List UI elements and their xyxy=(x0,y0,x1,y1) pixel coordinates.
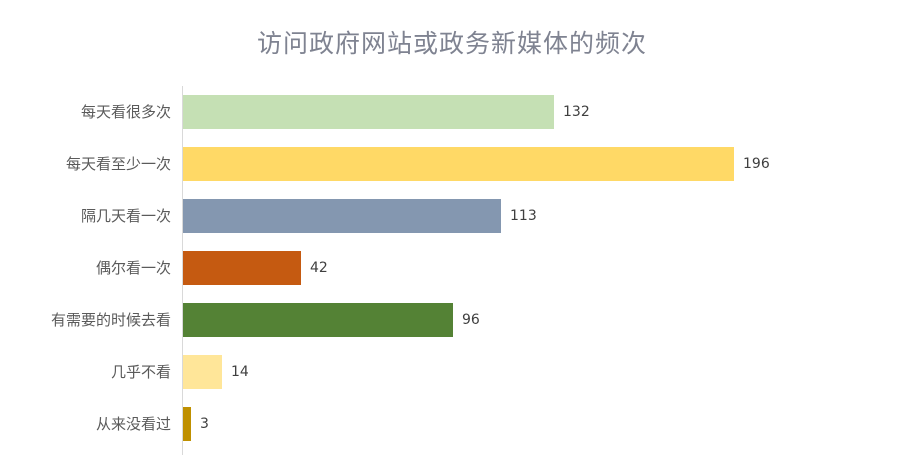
category-label: 几乎不看 xyxy=(111,346,182,398)
bar-value-label: 113 xyxy=(510,190,537,242)
bar-row: 偶尔看一次 42 xyxy=(0,242,904,294)
bar-row: 有需要的时候去看 96 xyxy=(0,294,904,346)
bar-row: 每天看很多次 132 xyxy=(0,86,904,138)
category-label: 有需要的时候去看 xyxy=(51,294,182,346)
plot-area: 每天看很多次 132 每天看至少一次 196 隔几天看一次 113 偶尔看一次 … xyxy=(0,86,904,461)
bar-segment[interactable] xyxy=(183,95,554,129)
bar-row: 从来没看过 3 xyxy=(0,398,904,450)
bar-value-label: 3 xyxy=(200,398,209,450)
bar-chart: 访问政府网站或政务新媒体的频次 每天看很多次 132 每天看至少一次 196 隔… xyxy=(0,0,904,475)
category-label: 偶尔看一次 xyxy=(96,242,182,294)
bar-segment[interactable] xyxy=(183,355,222,389)
bar-segment[interactable] xyxy=(183,303,453,337)
category-label: 每天看很多次 xyxy=(81,86,182,138)
bar-value-label: 132 xyxy=(563,86,590,138)
bar-value-label: 96 xyxy=(462,294,480,346)
bar-row: 每天看至少一次 196 xyxy=(0,138,904,190)
bar-segment[interactable] xyxy=(183,407,191,441)
bar-row: 几乎不看 14 xyxy=(0,346,904,398)
bar-segment[interactable] xyxy=(183,251,301,285)
bar-value-label: 42 xyxy=(310,242,328,294)
bar-segment[interactable] xyxy=(183,199,501,233)
category-label: 隔几天看一次 xyxy=(81,190,182,242)
category-label: 每天看至少一次 xyxy=(66,138,182,190)
bar-segment[interactable] xyxy=(183,147,734,181)
bar-row: 隔几天看一次 113 xyxy=(0,190,904,242)
bar-value-label: 14 xyxy=(231,346,249,398)
chart-title: 访问政府网站或政务新媒体的频次 xyxy=(0,28,904,60)
bar-value-label: 196 xyxy=(743,138,770,190)
category-label: 从来没看过 xyxy=(96,398,182,450)
